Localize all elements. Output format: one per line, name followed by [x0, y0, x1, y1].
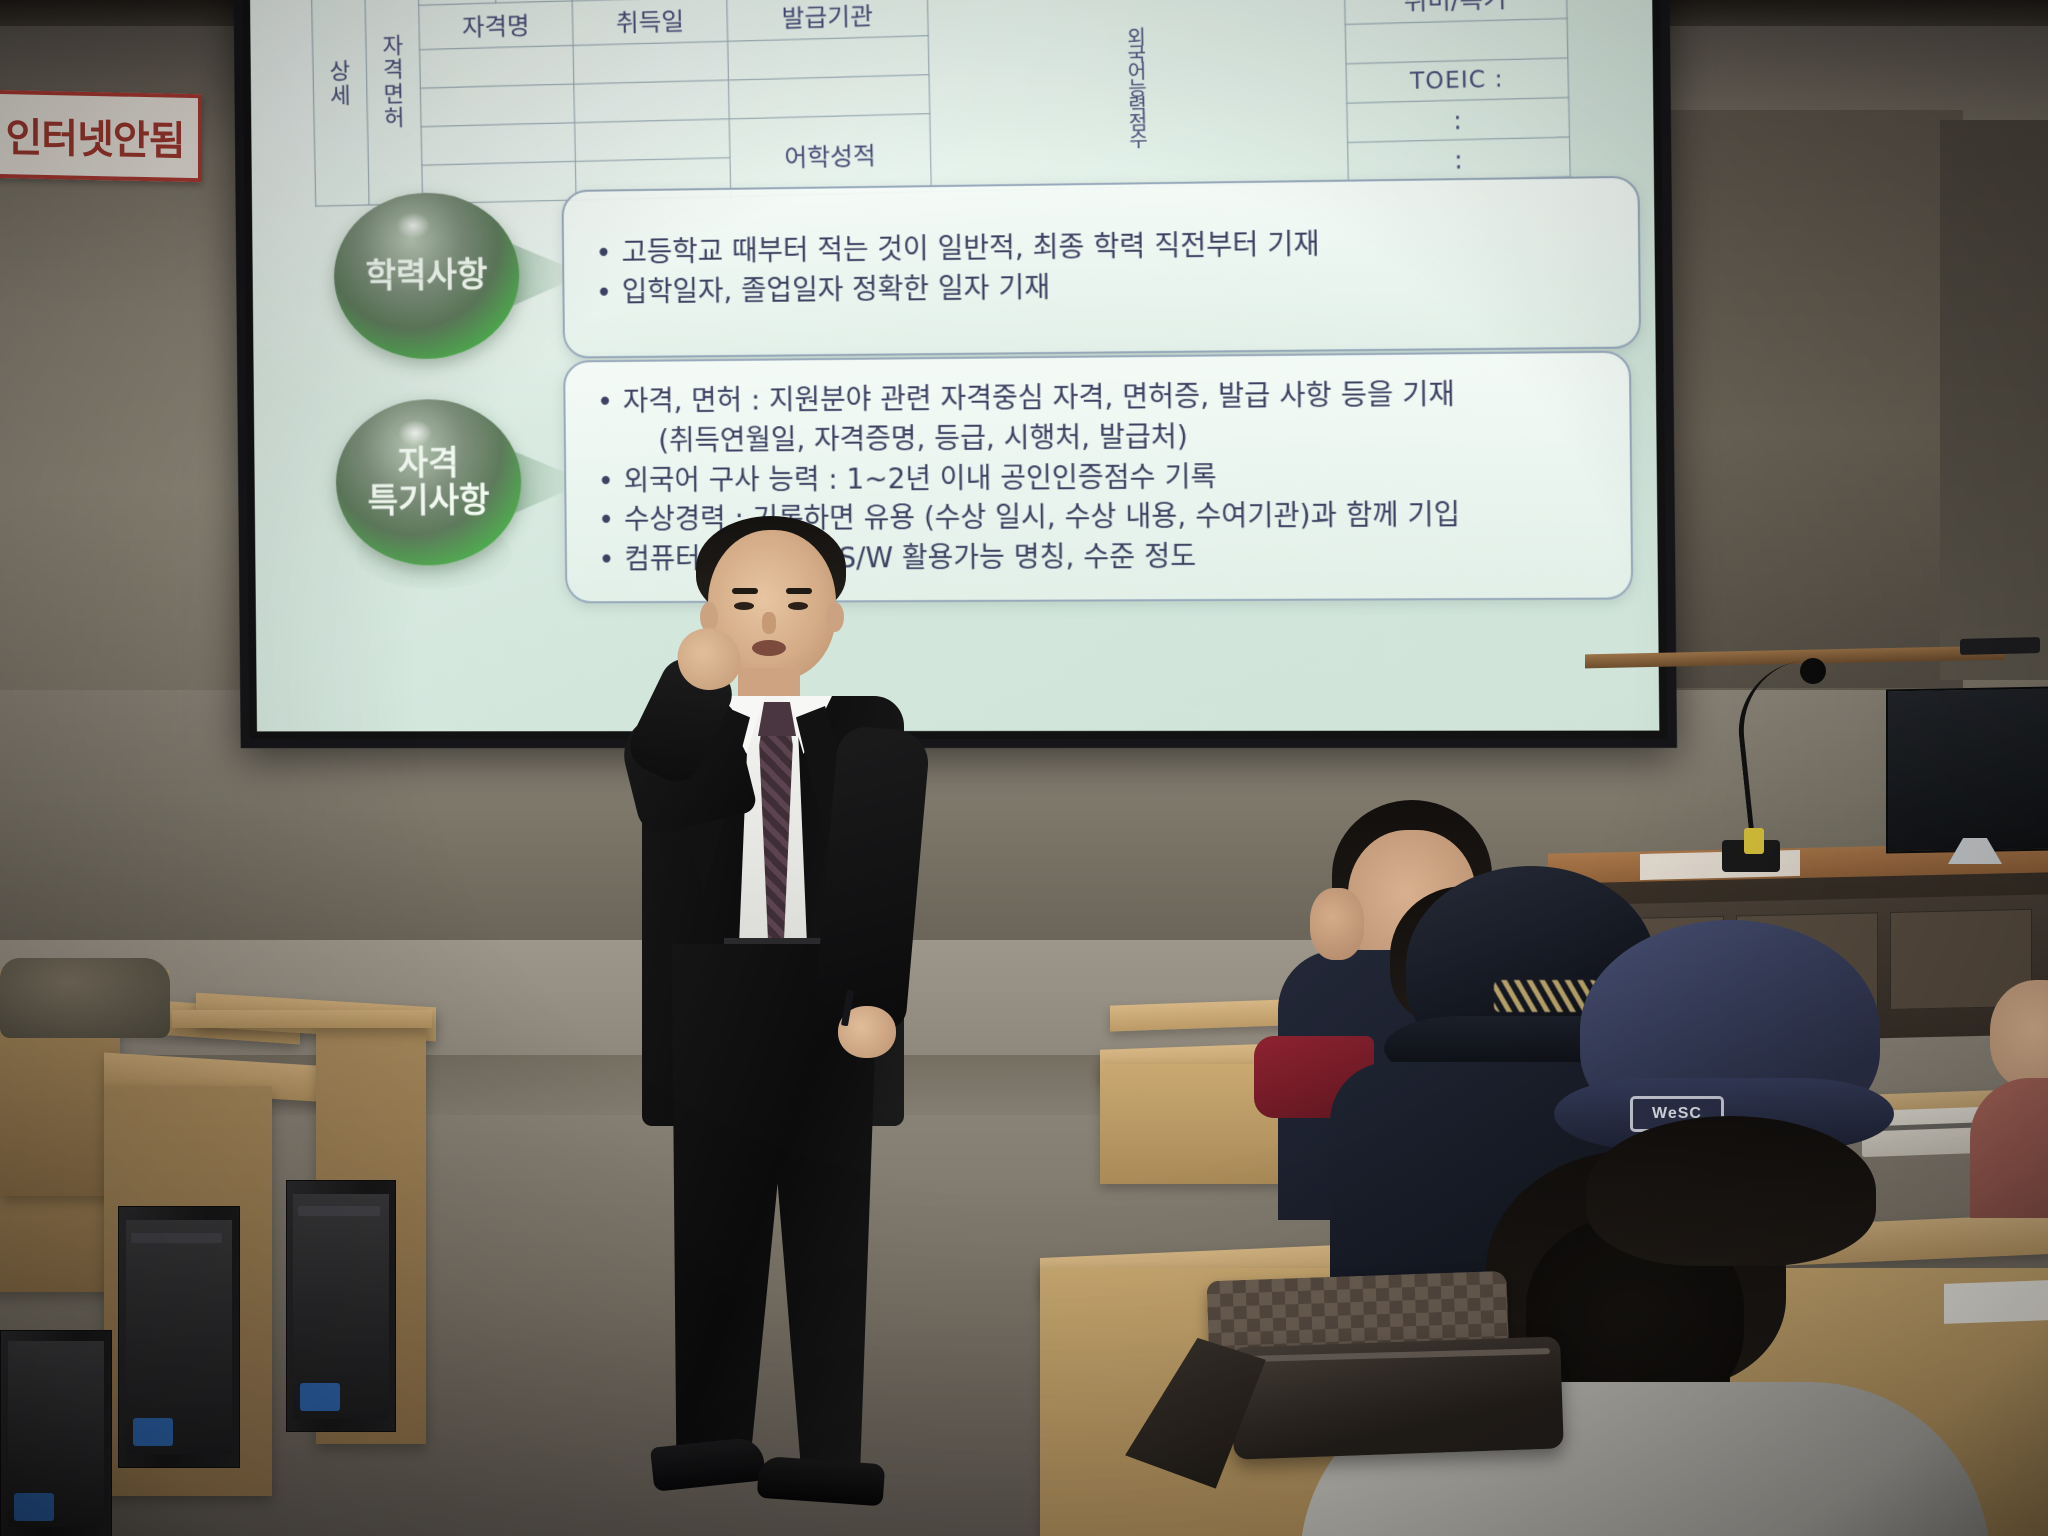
cell-blank: [420, 45, 574, 88]
eyebrow: [786, 588, 812, 594]
pc-tower: [0, 1330, 112, 1536]
pc-logo-badge: [133, 1418, 173, 1446]
pc-drive-slot: [298, 1206, 380, 1216]
desk-left-mid-panel: [0, 1026, 120, 1196]
cert-label-cell: 자격 면허: [364, 0, 422, 205]
cell-language-label: 어학성적: [730, 114, 931, 197]
backpack: [0, 958, 170, 1038]
header-issuer: 발급기관: [727, 0, 928, 41]
pc-logo-badge: [14, 1493, 54, 1521]
mouth: [752, 640, 786, 656]
presenter-lecturer: [600, 520, 940, 1530]
pc-tower: [118, 1206, 240, 1468]
presenter-shoe-right: [757, 1456, 886, 1507]
bullet-item: •자격, 면허 : 지원분야 관련 자격중심 자격, 면허증, 발급 사항 등을…: [597, 373, 1603, 421]
resume-form-table: 상 세 자격 면허 년 월 대학원 전공 졸업(예정, 수료) 자격명 취득일: [310, 0, 1570, 207]
bullet-subitem: (취득연월일, 자격증명, 등급, 시행처, 발급처): [597, 414, 1603, 461]
bubble-education-label: 학력사항: [333, 192, 520, 360]
student-hair: [1586, 1116, 1876, 1266]
eye: [734, 602, 754, 610]
pc-drive-slot: [131, 1233, 222, 1243]
cell-blank: [729, 75, 930, 119]
lecture-hall-photo: 인터넷안됨 상 세 자격 면허 년 월 대학원: [0, 0, 2048, 1536]
presentation-slide: 상 세 자격 면허 년 월 대학원 전공 졸업(예정, 수료) 자격명 취득일: [250, 0, 1660, 731]
cell-blank: [1345, 18, 1568, 63]
lectern-monitor: [1886, 687, 2048, 854]
student-hand: [1310, 888, 1364, 960]
eye: [788, 602, 808, 610]
header-foreign-language-score: 외국어능력점수: [927, 0, 1348, 192]
callout-education: •고등학교 때부터 적는 것이 일반적, 최종 학력 직전부터 기재 •입학일자…: [562, 176, 1642, 359]
wall-panel-far-right: [1940, 120, 2048, 680]
cell-blank: [420, 84, 574, 127]
student-head: [1990, 980, 2048, 1090]
projector-screen: 상 세 자격 면허 년 월 대학원 전공 졸업(예정, 수료) 자격명 취득일: [233, 0, 1677, 748]
nose: [762, 612, 776, 634]
ear: [826, 602, 844, 632]
necktie-knot: [758, 702, 796, 736]
cell-blank: [573, 41, 729, 84]
cell-blank: [421, 123, 575, 165]
cell-score-1: :: [1346, 97, 1569, 142]
wall-panel-right: [1660, 110, 1963, 700]
slide-group-education: 학력사항 •고등학교 때부터 적는 것이 일반적, 최종 학력 직전부터 기재 …: [333, 176, 1641, 361]
pc-tower: [286, 1180, 396, 1432]
cell-blank: [574, 80, 730, 123]
header-acquire-date: 취득일: [572, 0, 728, 45]
bullet-item: •외국어 구사 능력 : 1~2년 이내 공인인증점수 기록: [597, 454, 1603, 500]
remote-control: [1960, 637, 2040, 655]
cell-score-2: :: [1347, 137, 1570, 182]
cell-blank: [575, 119, 731, 162]
student-torso: [1970, 1078, 2048, 1218]
student-navy-cap: WeSC: [1560, 920, 1920, 1340]
student-far-right: [1980, 980, 2048, 1180]
presenter-shoe-left: [650, 1436, 766, 1491]
cell-blank: [728, 36, 929, 80]
cell-toeic: TOEIC :: [1346, 58, 1569, 103]
desk-shelf: [172, 1010, 432, 1028]
eyebrow: [732, 588, 758, 594]
wall-notice-sign: 인터넷안됨: [0, 90, 202, 182]
microphone-indicator: [1744, 828, 1764, 854]
wall-notice-text: 인터넷안됨: [6, 105, 185, 167]
header-cert-name: 자격명: [419, 1, 574, 50]
row-label-cell: 상 세: [311, 0, 369, 206]
microphone-icon: [1800, 658, 1826, 684]
pc-logo-badge: [300, 1383, 340, 1411]
bubble-certification-label: 자격 특기사항: [335, 399, 522, 566]
slide-group-certification: 자격 특기사항 •자격, 면허 : 지원분야 관련 자격중심 자격, 면허증, …: [335, 351, 1633, 604]
